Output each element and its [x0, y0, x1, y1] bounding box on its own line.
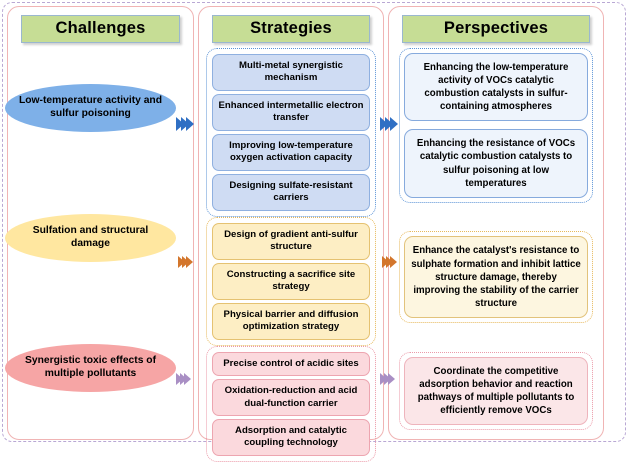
strategy-item[interactable]: Adsorption and catalytic coupling techno…	[212, 419, 370, 456]
strategy-item[interactable]: Physical barrier and diffusion optimizat…	[212, 303, 370, 340]
column-header-perspectives: Perspectives	[402, 15, 590, 43]
strategy-item[interactable]: Design of gradient anti-sulfur structure	[212, 223, 370, 260]
arrow-strategies-to-perspectives-purple	[380, 373, 392, 385]
strategy-group-blue: Multi-metal synergistic mechanism Enhanc…	[206, 48, 376, 217]
column-header-challenges: Challenges	[21, 15, 180, 43]
perspective-item[interactable]: Enhance the catalyst's resistance to sul…	[404, 236, 588, 317]
strategy-item[interactable]: Oxidation-reduction and acid dual-functi…	[212, 379, 370, 416]
challenge-item-low-temperature-activity[interactable]: Low-temperature activity and sulfur pois…	[5, 84, 176, 132]
arrow-challenges-to-strategies-purple	[176, 373, 188, 385]
strategy-groups: Multi-metal synergistic mechanism Enhanc…	[206, 43, 376, 464]
arrow-strategies-to-perspectives-orange	[382, 256, 394, 268]
challenge-cell: Sulfation and structural damage	[15, 173, 186, 303]
arrow-challenges-to-strategies-orange	[178, 256, 190, 268]
perspective-group-yellow: Enhance the catalyst's resistance to sul…	[399, 231, 593, 322]
strategy-item[interactable]: Multi-metal synergistic mechanism	[212, 54, 370, 91]
strategy-group-pink: Precise control of acidic sites Oxidatio…	[206, 346, 376, 462]
column-perspectives: Perspectives Enhancing the low-temperatu…	[388, 6, 604, 440]
challenge-item-synergistic-toxic-effects[interactable]: Synergistic toxic effects of multiple po…	[5, 344, 176, 392]
strategy-item[interactable]: Constructing a sacrifice site strategy	[212, 263, 370, 300]
column-challenges: Challenges Low-temperature activity and …	[7, 6, 194, 440]
challenge-cell: Low-temperature activity and sulfur pois…	[15, 43, 186, 173]
perspective-groups: Enhancing the low-temperature activity o…	[396, 43, 596, 433]
perspective-group-blue: Enhancing the low-temperature activity o…	[399, 48, 593, 203]
chevron-right-icon	[184, 373, 191, 385]
column-strategies: Strategies Multi-metal synergistic mecha…	[198, 6, 384, 440]
strategy-item[interactable]: Enhanced intermetallic electron transfer	[212, 94, 370, 131]
perspective-item[interactable]: Enhancing the resistance of VOCs catalyt…	[404, 129, 588, 197]
chevron-right-icon	[388, 373, 395, 385]
chevron-right-icon	[186, 256, 193, 268]
challenge-list: Low-temperature activity and sulfur pois…	[15, 43, 186, 433]
perspective-group-pink: Coordinate the competitive adsorption be…	[399, 352, 593, 430]
diagram-board: Challenges Low-temperature activity and …	[0, 0, 630, 446]
strategy-group-yellow: Design of gradient anti-sulfur structure…	[206, 217, 376, 346]
column-header-strategies: Strategies	[212, 15, 370, 43]
chevron-right-icon	[390, 117, 398, 131]
perspective-slot: Enhancing the low-temperature activity o…	[404, 53, 588, 198]
strategy-item[interactable]: Improving low-temperature oxygen activat…	[212, 134, 370, 171]
perspective-item[interactable]: Coordinate the competitive adsorption be…	[404, 357, 588, 425]
arrow-challenges-to-strategies-blue	[176, 117, 191, 131]
strategy-item[interactable]: Precise control of acidic sites	[212, 352, 370, 376]
challenge-cell: Synergistic toxic effects of multiple po…	[15, 303, 186, 433]
challenge-item-sulfation-structural-damage[interactable]: Sulfation and structural damage	[5, 214, 176, 262]
perspective-item[interactable]: Enhancing the low-temperature activity o…	[404, 53, 588, 121]
strategy-item[interactable]: Designing sulfate-resistant carriers	[212, 174, 370, 211]
arrow-strategies-to-perspectives-blue	[380, 117, 395, 131]
chevron-right-icon	[390, 256, 397, 268]
chevron-right-icon	[186, 117, 194, 131]
